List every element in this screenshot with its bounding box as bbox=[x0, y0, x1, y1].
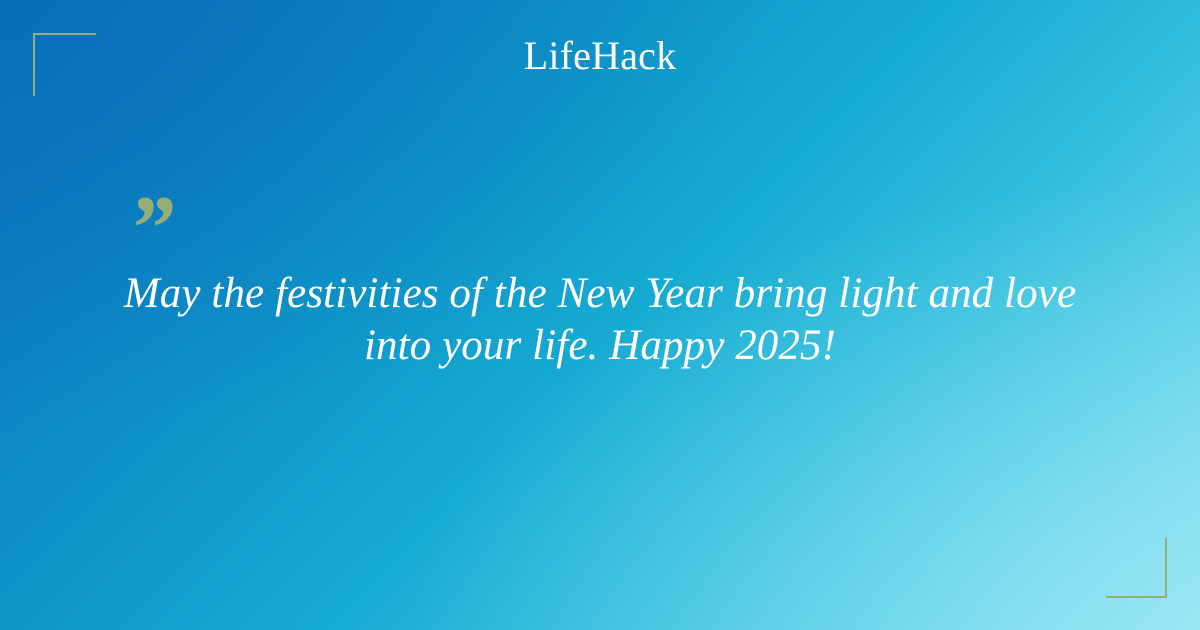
quotation-mark-icon: ” bbox=[128, 182, 174, 274]
corner-bracket-bottom-right-horizontal bbox=[1106, 596, 1167, 598]
quote-card: LifeHack ” May the festivities of the Ne… bbox=[0, 0, 1200, 630]
brand-logo: LifeHack bbox=[0, 36, 1200, 76]
quote-text: May the festivities of the New Year brin… bbox=[90, 268, 1110, 372]
corner-bracket-bottom-right-vertical bbox=[1165, 538, 1167, 598]
corner-bracket-bottom-right-icon bbox=[1106, 538, 1167, 598]
corner-bracket-top-left-horizontal bbox=[33, 33, 96, 35]
